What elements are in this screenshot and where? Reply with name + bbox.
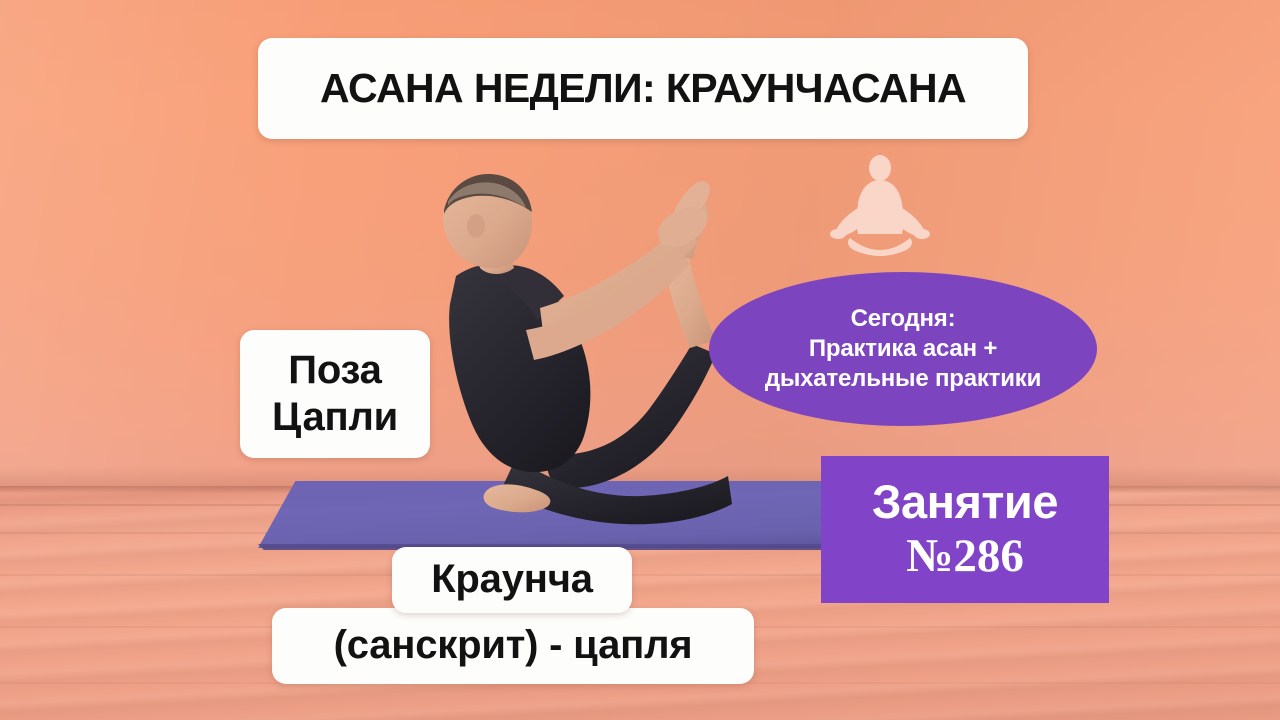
lesson-label: Занятие [872,478,1058,525]
video-thumbnail: АСАНА НЕДЕЛИ: КРАУНЧАСАНА Поза Цапли Кра… [0,0,1280,720]
pose-name-label: Поза Цапли [240,330,430,458]
pose-name-line-2: Цапли [272,394,398,441]
yoga-practitioner-krounchasana [398,158,758,548]
today-line-1: Сегодня: [765,304,1041,334]
page-title: АСАНА НЕДЕЛИ: КРАУНЧАСАНА [258,38,1028,139]
meditating-lotus-figure-icon [820,146,940,262]
sanskrit-translation-label: (санскрит) - цапля [272,608,754,684]
today-line-3: дыхательные практики [765,364,1041,394]
lesson-number: №286 [906,532,1024,581]
today-program-badge: Сегодня: Практика асан + дыхательные пра… [709,272,1097,426]
today-line-2: Практика асан + [765,334,1041,364]
pose-name-line-1: Поза [288,347,381,394]
sanskrit-term-label: Краунча [392,547,632,613]
lesson-number-badge: Занятие №286 [821,456,1109,603]
